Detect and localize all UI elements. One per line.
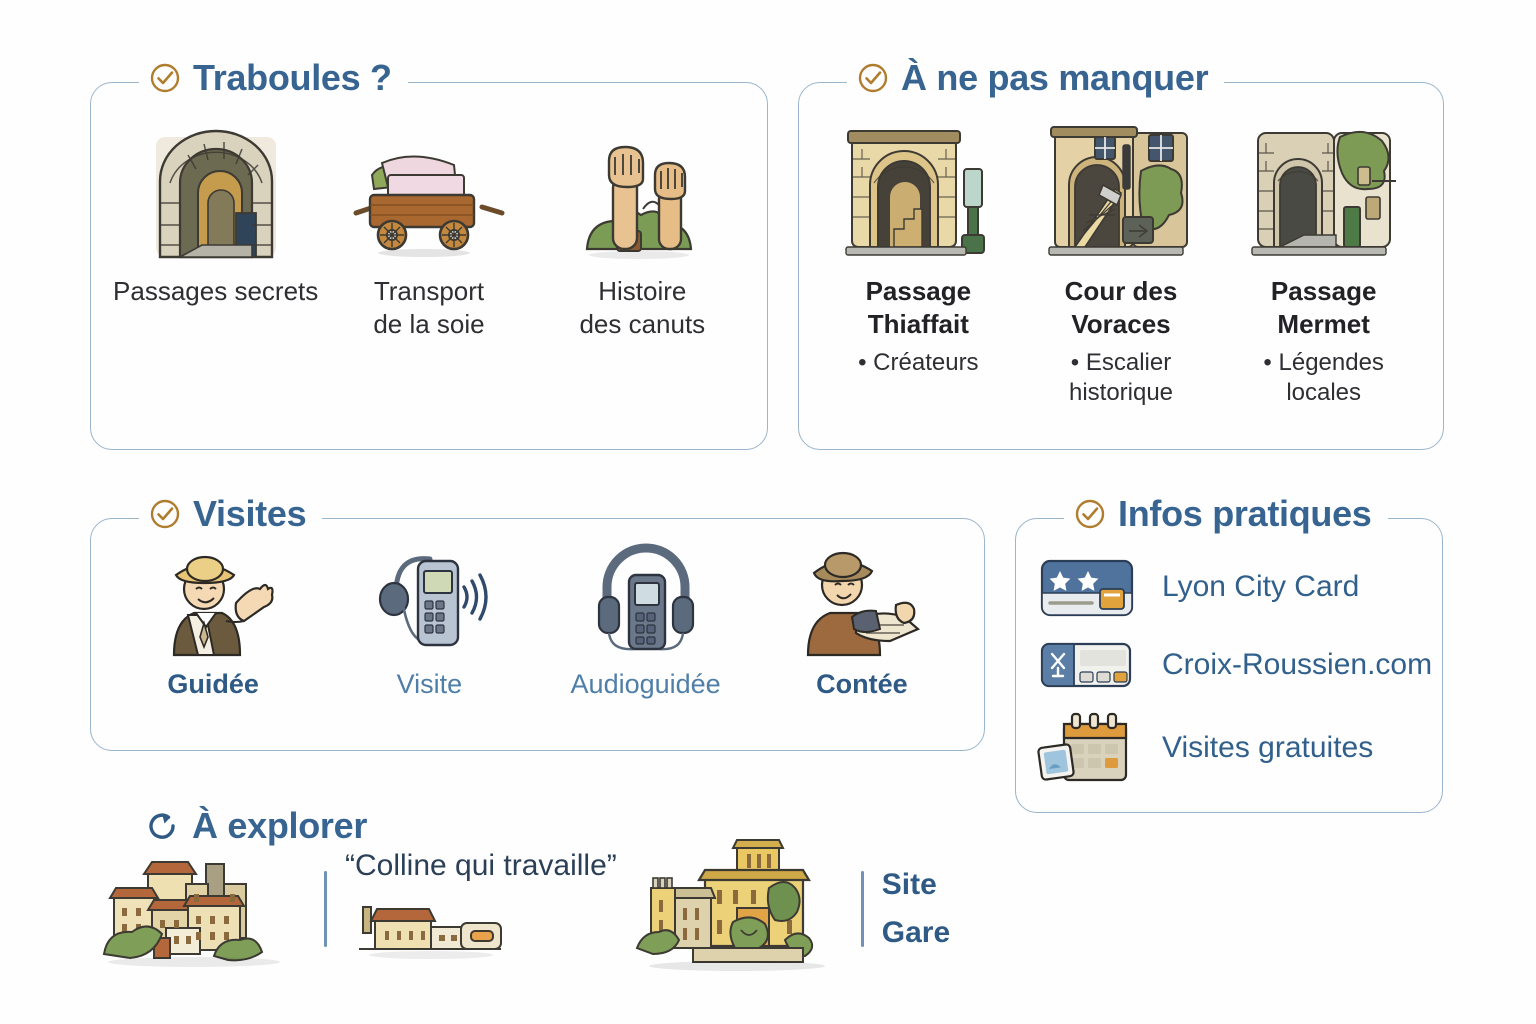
item-label: Passages secrets	[113, 275, 318, 308]
item-cour-des-voraces: Cour des Voraces • Escalier historique	[1020, 111, 1223, 435]
item-label: Passage Thiaffait	[866, 275, 972, 342]
check-circle-icon	[149, 498, 181, 530]
storyteller-icon	[792, 537, 932, 657]
explorer-site-gare-block: Site Gare	[882, 861, 950, 957]
info-item-label: Lyon City Card	[1162, 570, 1359, 604]
stone-gate-tree-icon	[1244, 111, 1404, 261]
raised-fists-icon	[567, 111, 717, 261]
manquer-items: Passage Thiaffait • Créateurs	[799, 83, 1443, 449]
calendar-icon	[1036, 710, 1140, 786]
item-separator	[324, 871, 327, 947]
info-item-lyon-city-card[interactable]: Lyon City Card	[1036, 553, 1442, 621]
item-passage-mermet: Passage Mermet • Légendes locales	[1222, 111, 1425, 435]
item-separator-2	[861, 871, 864, 947]
bullet-cont: historique	[1069, 378, 1173, 409]
stone-archway-icon	[140, 111, 292, 261]
item-audioguidee: Audioguidée	[538, 537, 754, 740]
item-label: Contée	[816, 669, 908, 700]
tour-guide-icon	[148, 537, 278, 657]
traboules-items: Passages secrets	[91, 83, 767, 449]
archway-lamp-icon	[838, 111, 998, 261]
explorer-label-line2: Gare	[882, 909, 950, 957]
section-title-text: Visites	[193, 496, 306, 532]
section-a-explorer: À explorer	[90, 828, 985, 986]
explorer-quote-block: “Colline qui travaille”	[345, 849, 617, 968]
explorer-label-line1: Site	[882, 861, 950, 909]
refresh-circle-icon	[148, 810, 180, 842]
item-passages-secrets: Passages secrets	[109, 111, 322, 435]
item-bullets: • Créateurs	[858, 348, 978, 379]
check-circle-icon	[1074, 498, 1106, 530]
section-infos-pratiques: Infos pratiques Lyon City Card	[1015, 518, 1443, 813]
section-title-text: À ne pas manquer	[901, 60, 1208, 96]
ticket-icon	[1036, 636, 1140, 694]
item-label: Transport de la soie	[373, 275, 484, 342]
check-circle-icon	[857, 62, 889, 94]
section-title-traboules: Traboules ?	[139, 60, 408, 96]
item-contee: Contée	[754, 537, 970, 740]
infos-items: Lyon City Card Croix-Roussien.com	[1016, 519, 1442, 812]
section-title-infos: Infos pratiques	[1064, 496, 1388, 532]
item-label: Cour des Voraces	[1065, 275, 1178, 342]
info-item-visites-gratuites[interactable]: Visites gratuites	[1036, 710, 1442, 786]
bullet: • Créateurs	[858, 348, 978, 379]
city-card-icon	[1036, 553, 1140, 621]
audioguide-icon	[364, 537, 494, 657]
section-title-visites: Visites	[139, 496, 322, 532]
section-title-text: À explorer	[192, 808, 367, 844]
explorer-quote: “Colline qui travaille”	[345, 849, 617, 883]
hillside-village-icon	[90, 842, 306, 975]
headphones-icon	[581, 537, 711, 657]
section-a-ne-pas-manquer: À ne pas manquer	[798, 82, 1444, 450]
bullet: • Escalier	[1069, 348, 1173, 379]
item-histoire-canuts: Histoire des canuts	[536, 111, 749, 435]
check-circle-icon	[149, 62, 181, 94]
item-label: Visite	[397, 669, 463, 700]
item-label: Guidée	[167, 669, 259, 700]
hill-town-large-icon	[633, 836, 843, 981]
bullet: • Légendes	[1263, 348, 1384, 379]
infographic-page: Traboules ?	[0, 0, 1536, 1024]
item-passage-thiaffait: Passage Thiaffait • Créateurs	[817, 111, 1020, 435]
info-item-website[interactable]: Croix-Roussien.com	[1036, 636, 1442, 694]
item-bullets: • Escalier historique	[1069, 348, 1173, 409]
section-visites: Visites	[90, 518, 985, 751]
bullet-cont: locales	[1263, 378, 1384, 409]
silk-cart-icon	[344, 111, 514, 261]
info-item-label: Visites gratuites	[1162, 731, 1373, 765]
item-label: Audioguidée	[571, 669, 721, 700]
explorer-items: “Colline qui travaille”	[90, 836, 1170, 981]
item-label: Passage Mermet	[1271, 275, 1377, 342]
section-title-manquer: À ne pas manquer	[847, 60, 1224, 96]
section-traboules: Traboules ?	[90, 82, 768, 450]
section-title-text: Infos pratiques	[1118, 496, 1372, 532]
section-title-explorer: À explorer	[138, 808, 383, 844]
section-title-text: Traboules ?	[193, 60, 392, 96]
item-guidee: Guidée	[105, 537, 321, 740]
hill-town-icon	[345, 889, 617, 968]
item-label: Histoire des canuts	[579, 275, 705, 342]
item-visite: Visite	[321, 537, 537, 740]
item-bullets: • Légendes locales	[1263, 348, 1384, 409]
info-item-label: Croix-Roussien.com	[1162, 648, 1432, 682]
staircase-courtyard-icon	[1041, 111, 1201, 261]
visites-items: Guidée	[91, 519, 984, 750]
item-transport-soie: Transport de la soie	[322, 111, 535, 435]
